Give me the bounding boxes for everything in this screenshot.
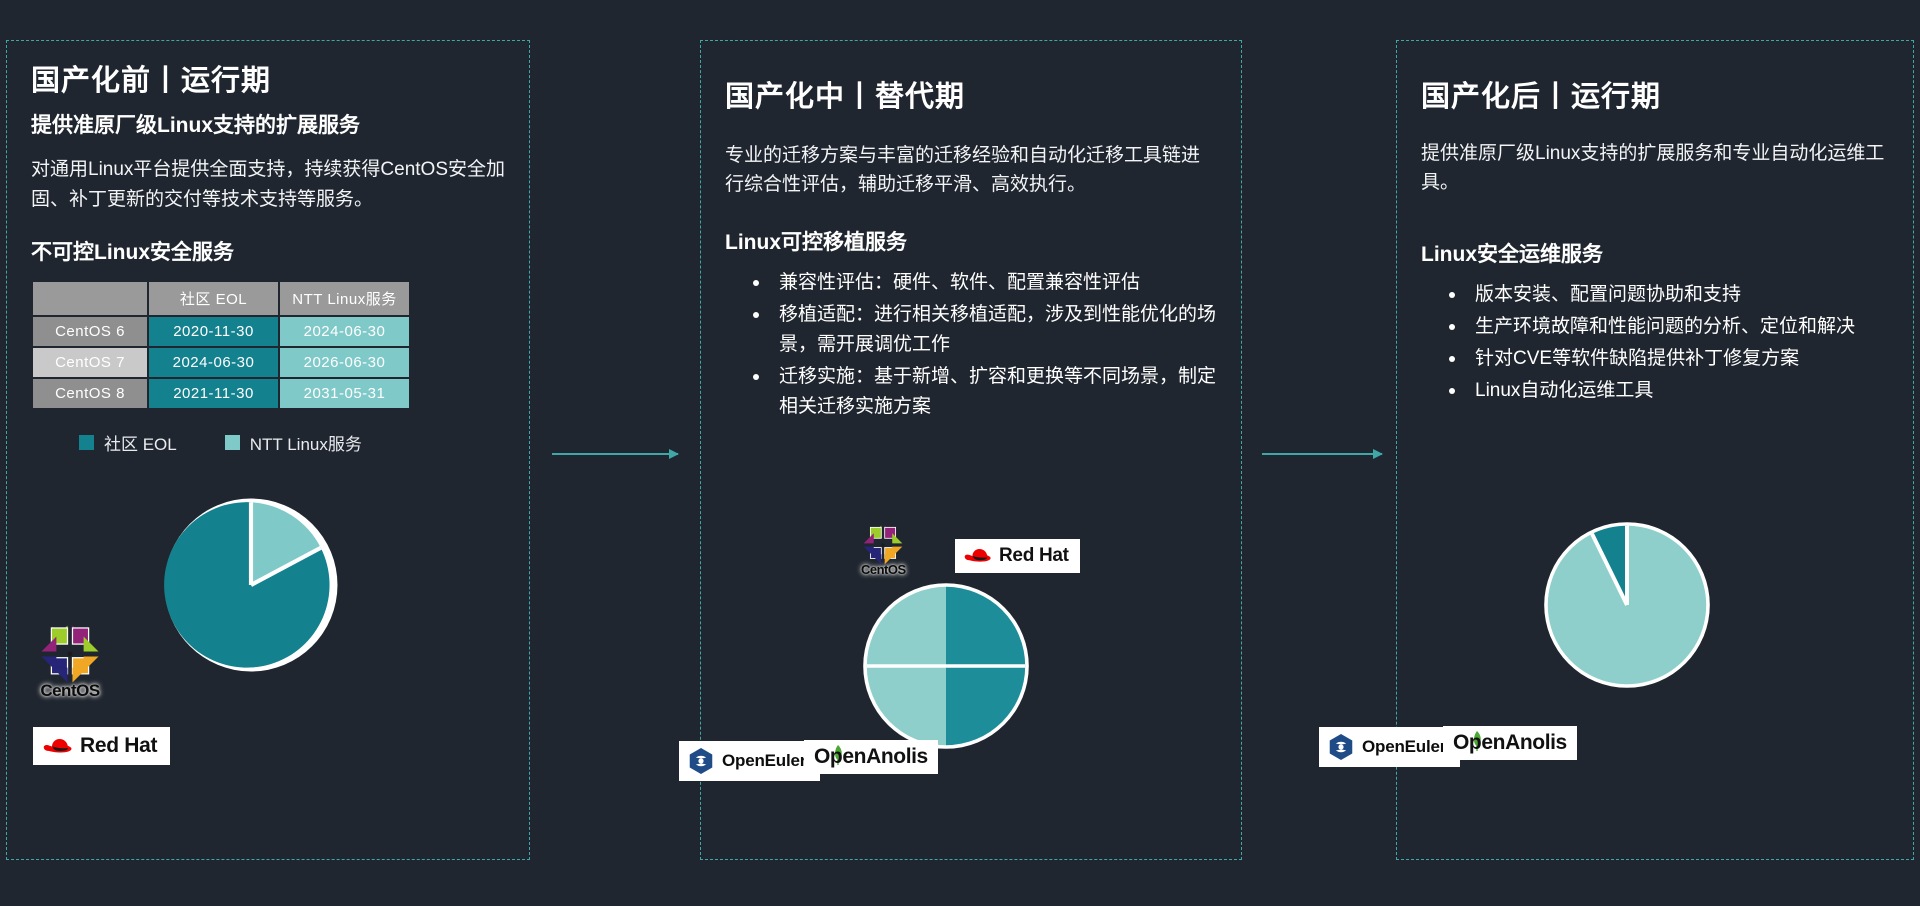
- table-header-row: 社区 EOL NTT Linux服务: [33, 282, 409, 315]
- table-cell-os: CentOS 8: [33, 379, 147, 408]
- panel-before-title: 国产化前丨运行期: [31, 63, 505, 101]
- panel-during-title: 国产化中丨替代期: [725, 79, 1217, 117]
- list-item: 生产环境故障和性能问题的分析、定位和解决: [1449, 312, 1889, 342]
- table-cell-os: CentOS 6: [33, 317, 147, 346]
- panel-before-body: 对通用Linux平台提供全面支持，持续获得CentOS安全加固、补丁更新的交付等…: [31, 155, 505, 214]
- openeuler-logo: OpenEuler: [679, 741, 820, 781]
- table-cell-ntt: 2024-06-30: [280, 317, 409, 346]
- panel-after: 国产化后丨运行期 提供准原厂级Linux支持的扩展服务和专业自动化运维工具。 L…: [1396, 40, 1914, 860]
- table-cell-ntt: 2031-05-31: [280, 379, 409, 408]
- table-cell-eol: 2020-11-30: [149, 317, 278, 346]
- openanolis-logo: OpenAnolis: [1443, 726, 1577, 760]
- list-item: 移植适配：进行相关移植适配，涉及到性能优化的场景，需开展调优工作: [753, 300, 1217, 360]
- openanolis-logo-label: OpenAnolis: [1453, 731, 1567, 755]
- table-row: CentOS 7 2024-06-30 2026-06-30: [33, 348, 409, 377]
- centos-logo-label: CentOS: [40, 681, 99, 701]
- redhat-logo-label: Red Hat: [999, 545, 1069, 567]
- redhat-logo: Red Hat: [955, 539, 1080, 573]
- panel-during-bullets: 兼容性评估：硬件、软件、配置兼容性评估 移植适配：进行相关移植适配，涉及到性能优…: [725, 268, 1217, 422]
- pie-legend: 社区 EOL NTT Linux服务: [31, 430, 505, 455]
- pie-after: [1537, 515, 1717, 695]
- list-item: 兼容性评估：硬件、软件、配置兼容性评估: [753, 268, 1217, 298]
- table-header-eol: 社区 EOL: [149, 282, 278, 315]
- table-row: CentOS 8 2021-11-30 2031-05-31: [33, 379, 409, 408]
- redhat-hat-icon: [964, 546, 992, 566]
- table-header-ntt: NTT Linux服务: [280, 282, 409, 315]
- eol-table: 社区 EOL NTT Linux服务 CentOS 6 2020-11-30 2…: [31, 280, 411, 410]
- centos-icon: [39, 623, 101, 685]
- list-item: 迁移实施：基于新增、扩容和更换等不同场景，制定相关迁移实施方案: [753, 362, 1217, 422]
- table-row: CentOS 6 2020-11-30 2024-06-30: [33, 317, 409, 346]
- legend-swatch-ntt: [225, 435, 240, 450]
- pie-after-svg: [1537, 515, 1717, 695]
- pie-during: [856, 576, 1036, 756]
- centos-icon: [862, 524, 904, 566]
- table-header-blank: [33, 282, 147, 315]
- openeuler-logo-label: OpenEuler: [1362, 737, 1446, 757]
- centos-logo-label: CentOS: [861, 562, 906, 577]
- centos-logo: CentOS: [39, 623, 101, 701]
- redhat-logo: Red Hat: [33, 727, 170, 765]
- panel-after-body: 提供准原厂级Linux支持的扩展服务和专业自动化运维工具。: [1421, 139, 1889, 198]
- panel-during-section-heading: Linux可控移植服务: [725, 226, 1217, 256]
- pie-during-svg: [856, 576, 1036, 756]
- legend-label-ntt: NTT Linux服务: [250, 430, 362, 455]
- panel-during: 国产化中丨替代期 专业的迁移方案与丰富的迁移经验和自动化迁移工具链进行综合性评估…: [700, 40, 1242, 860]
- openanolis-logo-label: OpenAnolis: [814, 745, 928, 769]
- redhat-hat-icon: [43, 736, 73, 757]
- table-cell-ntt: 2026-06-30: [280, 348, 409, 377]
- openeuler-icon: [1328, 733, 1354, 761]
- redhat-logo-label: Red Hat: [80, 734, 157, 758]
- openanolis-logo: OpenAnolis: [804, 740, 938, 774]
- panel-after-title: 国产化后丨运行期: [1421, 79, 1889, 117]
- list-item: Linux自动化运维工具: [1449, 376, 1889, 406]
- table-cell-os: CentOS 7: [33, 348, 147, 377]
- legend-label-eol: 社区 EOL: [104, 430, 177, 455]
- panel-before-subtitle: 提供准原厂级Linux支持的扩展服务: [31, 111, 505, 141]
- pie-before: [157, 491, 345, 679]
- openeuler-logo: OpenEuler: [1319, 727, 1460, 767]
- panel-before-section-heading: 不可控Linux安全服务: [31, 236, 505, 266]
- legend-swatch-eol: [79, 435, 94, 450]
- panel-before: 国产化前丨运行期 提供准原厂级Linux支持的扩展服务 对通用Linux平台提供…: [6, 40, 530, 860]
- list-item: 针对CVE等软件缺陷提供补丁修复方案: [1449, 344, 1889, 374]
- panel-after-bullets: 版本安装、配置问题协助和支持 生产环境故障和性能问题的分析、定位和解决 针对CV…: [1421, 280, 1889, 406]
- table-cell-eol: 2021-11-30: [149, 379, 278, 408]
- legend-item-eol: 社区 EOL: [79, 430, 177, 455]
- pie-before-svg: [157, 491, 345, 679]
- panel-during-body: 专业的迁移方案与丰富的迁移经验和自动化迁移工具链进行综合性评估，辅助迁移平滑、高…: [725, 141, 1217, 200]
- openeuler-icon: [688, 747, 714, 775]
- slide-canvas: 国产化前丨运行期 提供准原厂级Linux支持的扩展服务 对通用Linux平台提供…: [0, 0, 1920, 906]
- table-cell-eol: 2024-06-30: [149, 348, 278, 377]
- centos-logo: CentOS: [861, 524, 906, 577]
- panel-after-section-heading: Linux安全运维服务: [1421, 238, 1889, 268]
- legend-item-ntt: NTT Linux服务: [225, 430, 362, 455]
- arrow-during-to-after: [1262, 453, 1382, 455]
- arrow-before-to-during: [552, 453, 678, 455]
- list-item: 版本安装、配置问题协助和支持: [1449, 280, 1889, 310]
- openeuler-logo-label: OpenEuler: [722, 751, 806, 771]
